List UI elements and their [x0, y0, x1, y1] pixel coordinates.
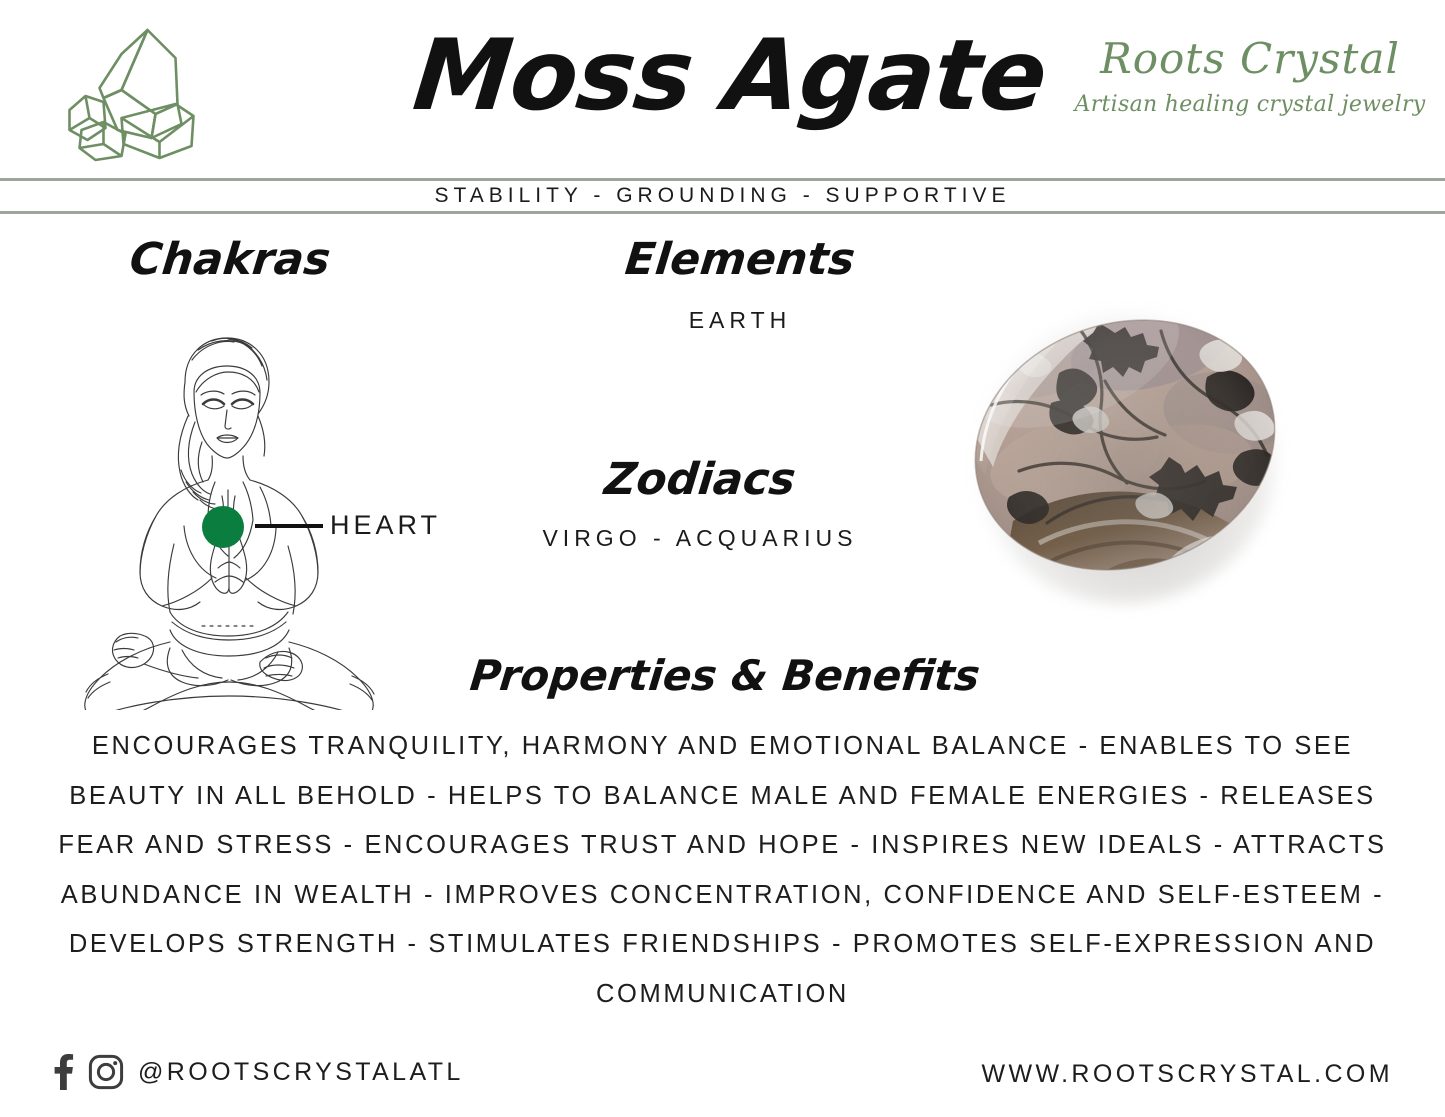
social-links: @ROOTSCRYSTALATL [52, 1054, 464, 1090]
chakra-point-heart [202, 506, 244, 548]
brand-name: Roots Crystal [1060, 34, 1440, 84]
website-url[interactable]: WWW.ROOTSCRYSTAL.COM [981, 1056, 1393, 1092]
crystal-info-card: Moss Agate Roots Crystal Artisan healing… [0, 0, 1445, 1117]
social-handle[interactable]: @ROOTSCRYSTALATL [138, 1054, 464, 1090]
tagline: STABILITY - GROUNDING - SUPPORTIVE [0, 180, 1445, 211]
properties-heading: Properties & Benefits [397, 648, 1053, 704]
chakras-heading: Chakras [0, 232, 463, 288]
zodiacs-heading: Zodiacs [447, 452, 953, 508]
properties-text: ENCOURAGES TRANQUILITY, HARMONY AND EMOT… [55, 722, 1390, 1019]
page-title: Moss Agate [393, 6, 1068, 146]
brand-block: Roots Crystal Artisan healing crystal je… [1060, 34, 1440, 122]
chakra-point-label: HEART [330, 505, 441, 545]
instagram-icon[interactable] [88, 1054, 124, 1090]
facebook-icon[interactable] [52, 1054, 74, 1090]
footer: @ROOTSCRYSTALATL WWW.ROOTSCRYSTAL.COM [0, 1050, 1445, 1110]
elements-value: EARTH [490, 305, 990, 335]
chakra-leader-line [255, 524, 323, 528]
crystal-cluster-icon [52, 18, 217, 168]
brand-tagline: Artisan healing crystal jewelry [1060, 88, 1440, 122]
moss-agate-oval-cabochon-photo [955, 285, 1295, 620]
elements-heading: Elements [487, 232, 993, 288]
divider-bottom [0, 211, 1445, 214]
header: Moss Agate Roots Crystal Artisan healing… [0, 0, 1445, 178]
zodiacs-value: VIRGO - ACQUARIUS [420, 522, 980, 554]
